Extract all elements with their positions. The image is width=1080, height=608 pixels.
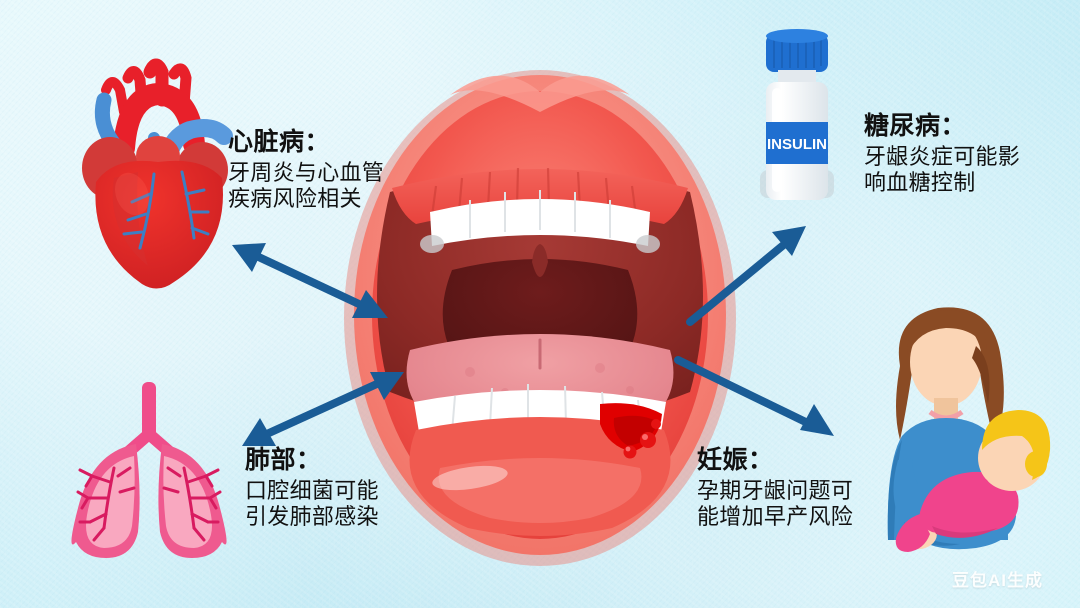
callout-diabetes: 糖尿病： 牙龈炎症可能影 响血糖控制 xyxy=(864,112,1020,195)
callout-heart-line-2: 疾病风险相关 xyxy=(228,186,384,212)
callout-diabetes-body: 牙龈炎症可能影 响血糖控制 xyxy=(864,144,1020,195)
callout-pregnancy-line-1: 孕期牙龈问题可 xyxy=(697,478,853,504)
open-mouth-illustration xyxy=(344,70,736,566)
watermark: 豆包AI生成 xyxy=(952,566,1043,591)
insulin-label: INSULIN xyxy=(767,136,827,153)
callout-heart: 心脏病： 牙周炎与心血管 疾病风险相关 xyxy=(228,128,384,211)
callout-diabetes-title: 糖尿病： xyxy=(864,112,1020,141)
callout-heart-body: 牙周炎与心血管 疾病风险相关 xyxy=(228,160,384,211)
callout-diabetes-line-1: 牙龈炎症可能影 xyxy=(864,144,1020,170)
callout-diabetes-line-2: 响血糖控制 xyxy=(864,170,1020,196)
callout-lungs-body: 口腔细菌可能 引发肺部感染 xyxy=(245,478,379,529)
callout-lungs-line-1: 口腔细菌可能 xyxy=(245,478,379,504)
mother-and-baby-icon xyxy=(888,307,1050,552)
anatomical-heart-icon xyxy=(82,65,228,289)
lungs-icon xyxy=(71,382,226,558)
callout-heart-title: 心脏病： xyxy=(228,128,384,157)
callout-lungs: 肺部： 口腔细菌可能 引发肺部感染 xyxy=(245,446,379,529)
infographic-canvas: INSULIN xyxy=(0,0,1080,608)
insulin-vial-icon: INSULIN xyxy=(760,29,834,200)
callout-pregnancy-title: 妊娠： xyxy=(697,446,853,475)
callout-pregnancy: 妊娠： 孕期牙龈问题可 能增加早产风险 xyxy=(697,446,853,529)
callout-pregnancy-line-2: 能增加早产风险 xyxy=(697,504,853,530)
callout-lungs-title: 肺部： xyxy=(245,446,379,475)
callout-lungs-line-2: 引发肺部感染 xyxy=(245,504,379,530)
callout-heart-line-1: 牙周炎与心血管 xyxy=(228,160,384,186)
callout-pregnancy-body: 孕期牙龈问题可 能增加早产风险 xyxy=(697,478,853,529)
illustration-layer: INSULIN xyxy=(0,0,1080,608)
